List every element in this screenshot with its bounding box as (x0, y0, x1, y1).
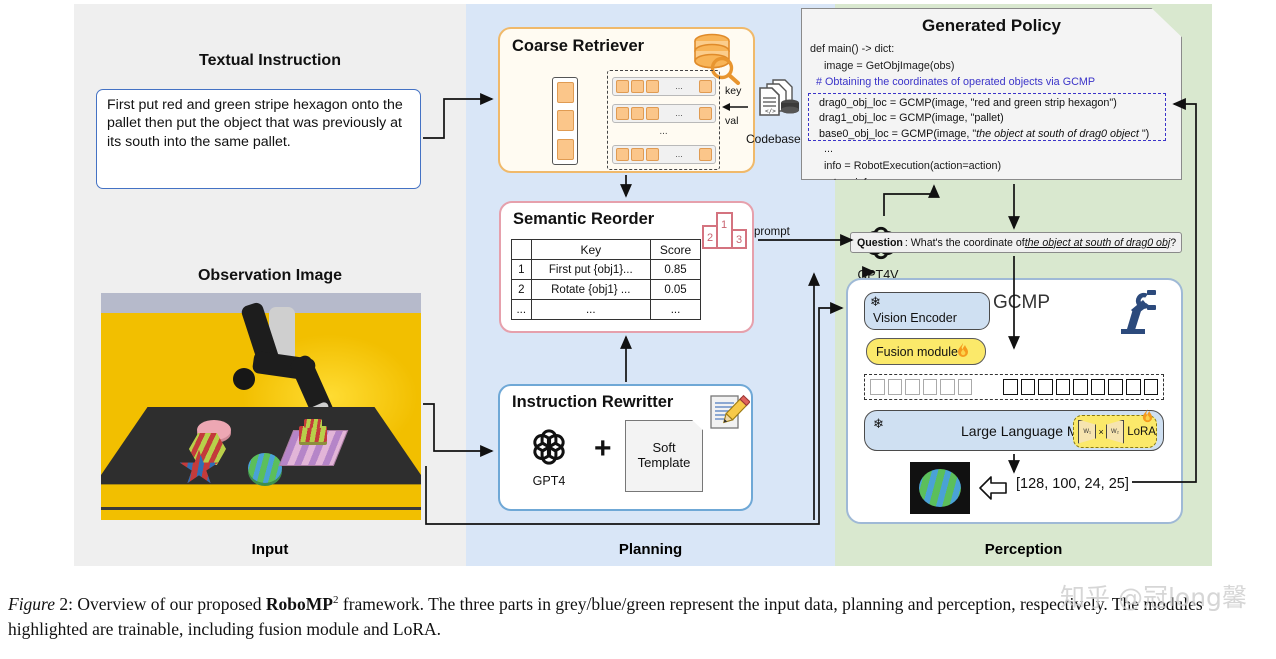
table-header-row: Key Score (512, 240, 701, 260)
row-cell (646, 148, 659, 161)
cell-key: Rotate {obj1} ... (531, 280, 650, 300)
codebase-row: ... (612, 77, 716, 96)
svg-text:2: 2 (707, 232, 713, 244)
fusion-module-label: Fusion module (876, 345, 958, 359)
semantic-reorder-title: Semantic Reorder (513, 210, 654, 229)
token-sequence-strip (864, 374, 1164, 400)
plus-icon: + (594, 434, 612, 464)
row-cell (616, 148, 629, 161)
panel-label-perception: Perception (835, 541, 1212, 558)
text-token (1056, 379, 1071, 395)
question-text: : What's the coordinate of (905, 237, 1025, 249)
instruction-text-box: First put red and green stripe hexagon o… (96, 89, 421, 189)
cell-score: ... (651, 300, 701, 320)
row-ellipsis: ... (661, 82, 697, 91)
code-line: drag1_obj_loc = GCMP(image, "pallet) (809, 111, 1165, 126)
panel-label-planning: Planning (466, 541, 835, 558)
lora-weight-b: W₂ (1106, 420, 1124, 444)
snowflake-frozen-icon: ❄ (870, 294, 881, 310)
code-comment-line: # Obtaining the coordinates of operated … (810, 74, 1176, 91)
code-line: drag0_obj_loc = GCMP(image, "red and gre… (809, 94, 1165, 111)
code-line: ... (810, 141, 1176, 158)
observation-image (101, 293, 421, 520)
row-cell (616, 107, 629, 120)
text-token (1126, 379, 1141, 395)
caption-bold-name: RoboMP (266, 594, 333, 614)
cell-index: 1 (512, 260, 532, 280)
text-token (1003, 379, 1018, 395)
header-index (512, 240, 532, 260)
svg-text:1: 1 (721, 219, 727, 231)
row-ellipsis: ... (661, 150, 697, 159)
obs-object-striped-disc (248, 453, 282, 483)
caption-fig-number: 2: (55, 594, 73, 614)
codebase-row: ... (612, 145, 716, 164)
codebase-label: Codebase (746, 132, 801, 146)
result-crop-thumbnail (910, 462, 970, 514)
generated-policy-card: Generated Policy def main() -> dict: ima… (801, 8, 1182, 180)
result-left-arrow-icon (978, 475, 1008, 501)
vision-token (940, 379, 955, 395)
val-label: val (725, 115, 738, 127)
row-cell (699, 148, 712, 161)
obs-object-block-top (304, 419, 322, 428)
text-token (1073, 379, 1088, 395)
vision-token (905, 379, 920, 395)
lora-adapter: W₁ × W₂ LoRA (1073, 415, 1157, 448)
cell-key: ... (531, 300, 650, 320)
header-key: Key (531, 240, 650, 260)
obs-floor (101, 510, 421, 520)
flame-trainable-icon (1141, 409, 1154, 425)
table-row: 2 Rotate {obj1} ... 0.05 (512, 280, 701, 300)
vision-encoder-module: Vision Encoder (864, 292, 990, 330)
podium-ranking-icon: 2 1 3 (702, 208, 748, 250)
row-cell (646, 107, 659, 120)
result-striped-disc (919, 469, 961, 507)
text-token (1021, 379, 1036, 395)
lora-label: LoRA (1127, 426, 1156, 438)
row-cell (631, 107, 644, 120)
coarse-retriever-card: Coarse Retriever ... (498, 27, 755, 173)
lora-weight-a: W₁ (1078, 420, 1096, 444)
semantic-reorder-card: Semantic Reorder 2 1 3 Key Score 1 First… (499, 201, 754, 333)
openai-logo-icon (526, 424, 572, 470)
vision-token (870, 379, 885, 395)
question-prefix: Question (857, 237, 903, 249)
semantic-reorder-table: Key Score 1 First put {obj1}... 0.85 2 R… (511, 239, 701, 320)
query-cell (557, 82, 574, 103)
row-cell (631, 148, 644, 161)
svg-text:3: 3 (736, 234, 742, 246)
gpt4-label: GPT4 (514, 474, 584, 488)
cell-score: 0.85 (651, 260, 701, 280)
snowflake-frozen-icon: ❄ (873, 416, 884, 432)
lora-multiply-icon: × (1098, 427, 1103, 437)
vision-token (958, 379, 973, 395)
text-token (1038, 379, 1053, 395)
robot-counterweight (233, 368, 255, 390)
text-token (1108, 379, 1123, 395)
question-emphasis: the object at south of drag0 obj (1025, 237, 1170, 249)
note-pencil-icon (708, 392, 750, 434)
cell-index: 2 (512, 280, 532, 300)
text-token (1091, 379, 1106, 395)
row-cell (646, 80, 659, 93)
large-language-model-module: ❄ Large Language Model W₁ × W₂ LoRA (864, 410, 1164, 451)
vision-token (888, 379, 903, 395)
obs-object-held-block (299, 426, 327, 442)
codebase-row-group: ... ... ... ... (607, 70, 720, 170)
codebase-rows-ellipsis: ... (608, 126, 719, 137)
textual-instruction-title: Textual Instruction (74, 52, 466, 70)
codebase-document-icon: </> (753, 77, 805, 129)
code-line: base0_obj_loc = GCMP(image, "the object … (809, 127, 1165, 142)
prompt-label: prompt (754, 226, 790, 238)
instruction-rewriter-title: Instruction Rewritter (512, 393, 673, 412)
cell-score: 0.05 (651, 280, 701, 300)
table-row: ... ... ... (512, 300, 701, 320)
caption-text-1: Overview of our proposed (73, 594, 266, 614)
code-line: info = RobotExecution(action=action) (810, 158, 1176, 175)
code-line: image = GetObjImage(obs) (810, 58, 1176, 75)
row-cell (631, 80, 644, 93)
instruction-rewriter-card: Instruction Rewritter GPT4 + Soft Templa… (498, 384, 753, 511)
watermark: 知乎 @冠long馨 (1060, 578, 1270, 614)
caption-fig-label: Figure (8, 594, 55, 614)
gcmp-title: GCMP (993, 292, 1050, 314)
gcmp-call-highlight-box: drag0_obj_loc = GCMP(image, "red and gre… (808, 93, 1166, 141)
query-vector-column (552, 77, 578, 165)
cell-index: ... (512, 300, 532, 320)
vision-encoder-label: Vision Encoder (873, 311, 957, 325)
observation-image-title: Observation Image (74, 267, 466, 285)
gcmp-card: GCMP Vision Encoder ❄ Fusion module (846, 278, 1183, 524)
codebase-row: ... (612, 104, 716, 123)
question-suffix: ? (1170, 237, 1176, 249)
row-cell (699, 107, 712, 120)
figure-canvas: Input Planning Perception Textual Instru… (74, 4, 1212, 566)
vision-token (923, 379, 938, 395)
soft-template-card: Soft Template (625, 420, 703, 492)
coarse-retriever-title: Coarse Retriever (512, 37, 644, 56)
key-val-arrow (722, 101, 748, 113)
query-cell (557, 139, 574, 160)
question-box: Question: What's the coordinate of the o… (850, 232, 1182, 253)
generated-policy-title: Generated Policy (802, 16, 1181, 36)
fusion-module: Fusion module (866, 338, 986, 365)
predicted-coordinates: [128, 100, 24, 25] (1016, 476, 1129, 492)
row-ellipsis: ... (661, 109, 697, 118)
header-score: Score (651, 240, 701, 260)
panel-label-input: Input (74, 541, 466, 558)
text-token (1144, 379, 1159, 395)
key-label: key (725, 85, 741, 97)
code-line: def main() -> dict: (810, 41, 1176, 58)
svg-text:</>: </> (765, 108, 776, 115)
table-row: 1 First put {obj1}... 0.85 (512, 260, 701, 280)
row-cell (616, 80, 629, 93)
cell-key: First put {obj1}... (531, 260, 650, 280)
flame-trainable-icon (956, 343, 970, 360)
robot-arm-icon (1111, 288, 1163, 336)
row-cell (699, 80, 712, 93)
query-cell (557, 110, 574, 131)
